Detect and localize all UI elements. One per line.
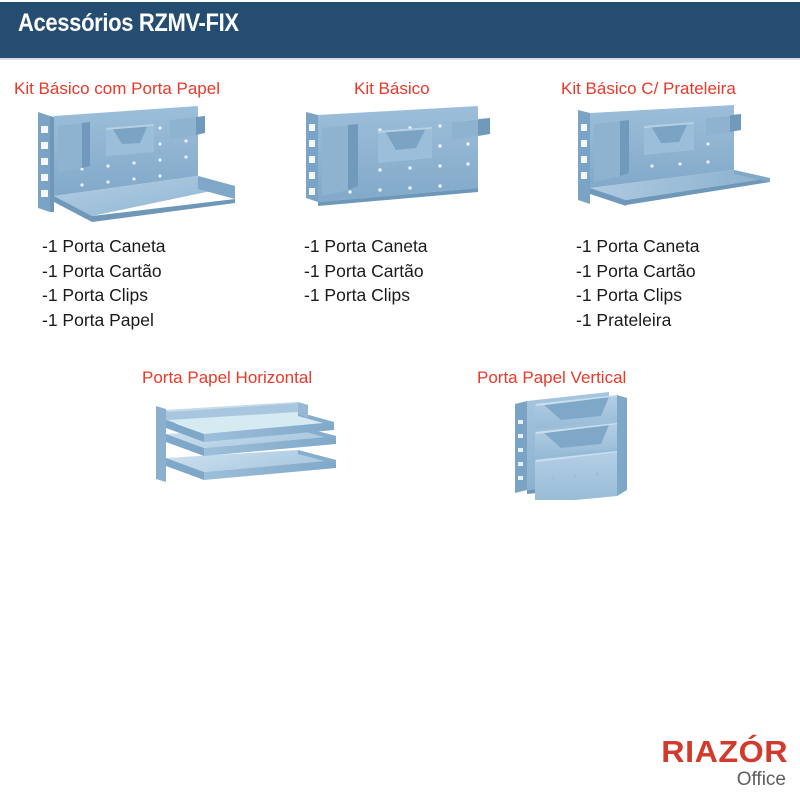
page-title: Acessórios RZMV-FIX	[18, 9, 239, 38]
header-divider	[0, 58, 800, 60]
spec-item: -1 Porta Caneta	[576, 234, 700, 259]
wall-panel-with-paper-tray-icon	[30, 104, 240, 224]
brand-name: RIAZÓR	[642, 736, 788, 767]
product-title-kit-basico-com-porta-papel: Kit Básico com Porta Papel	[14, 79, 220, 99]
product-title-kit-basico-c-prateleira: Kit Básico C/ Prateleira	[561, 79, 736, 99]
wall-panel-with-shelf-icon	[572, 104, 777, 214]
wall-panel-icon	[300, 106, 500, 211]
brand-tagline: Office	[648, 769, 786, 791]
spec-item: -1 Porta Papel	[42, 308, 166, 333]
spec-item: -1 Porta Caneta	[42, 234, 166, 259]
horizontal-paper-tray-icon	[148, 390, 343, 490]
spec-item: -1 Prateleira	[576, 308, 700, 333]
product-title-porta-papel-vertical: Porta Papel Vertical	[477, 368, 626, 388]
spec-item: -1 Porta Caneta	[304, 234, 428, 259]
spec-item: -1 Porta Cartão	[576, 259, 700, 284]
product-title-porta-papel-horizontal: Porta Papel Horizontal	[142, 368, 312, 388]
spec-item: -1 Porta Cartão	[42, 259, 166, 284]
spec-item: -1 Porta Cartão	[304, 259, 428, 284]
product-title-kit-basico: Kit Básico	[354, 79, 430, 99]
spec-item: -1 Porta Clips	[304, 283, 428, 308]
spec-list-kit-basico-com-porta-papel: -1 Porta Caneta -1 Porta Cartão -1 Porta…	[42, 234, 166, 332]
spec-item: -1 Porta Clips	[42, 283, 166, 308]
spec-list-kit-basico: -1 Porta Caneta -1 Porta Cartão -1 Porta…	[304, 234, 428, 308]
spec-list-kit-basico-c-prateleira: -1 Porta Caneta -1 Porta Cartão -1 Porta…	[576, 234, 700, 332]
vertical-paper-holder-icon	[505, 390, 670, 500]
brand-logo: RIAZÓR Office	[648, 736, 788, 791]
spec-item: -1 Porta Clips	[576, 283, 700, 308]
